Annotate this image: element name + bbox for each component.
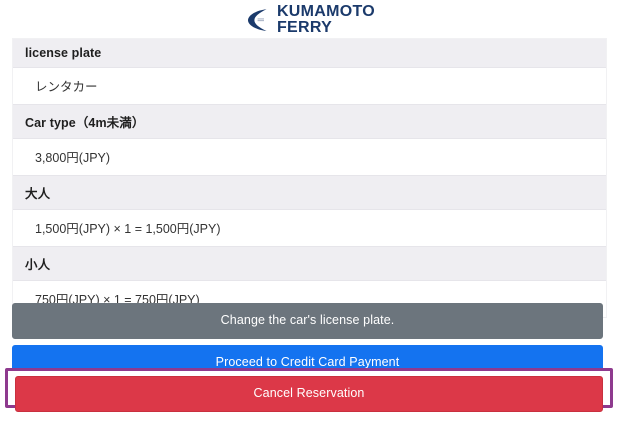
table-row: 小人 (13, 247, 606, 281)
brand-line-2: FERRY (277, 20, 375, 36)
reservation-details-panel: license plate レンタカー Car type（4m未満） 3,800… (12, 38, 607, 318)
cancel-reservation-highlight: Cancel Reservation (5, 368, 613, 408)
table-row: Car type（4m未満） (13, 105, 606, 139)
detail-label-license-plate: license plate (13, 39, 606, 68)
cancel-reservation-button[interactable]: Cancel Reservation (15, 376, 603, 412)
site-header: KUMAMOTO FERRY (0, 0, 620, 40)
scroll-gutter[interactable] (613, 0, 620, 427)
reservation-details-table: license plate レンタカー Car type（4m未満） 3,800… (13, 39, 606, 317)
table-row: 1,500円(JPY) × 1 = 1,500円(JPY) (13, 210, 606, 247)
detail-label-child: 小人 (13, 247, 606, 281)
detail-value-adult: 1,500円(JPY) × 1 = 1,500円(JPY) (13, 210, 606, 247)
table-row: license plate (13, 39, 606, 68)
change-license-plate-button[interactable]: Change the car's license plate. (12, 303, 603, 339)
table-row: 大人 (13, 176, 606, 210)
table-row: レンタカー (13, 68, 606, 105)
detail-label-adult: 大人 (13, 176, 606, 210)
brand-line-1: KUMAMOTO (277, 4, 375, 20)
brand-logo[interactable]: KUMAMOTO FERRY (245, 4, 375, 37)
table-row: 3,800円(JPY) (13, 139, 606, 176)
detail-value-license-plate: レンタカー (13, 68, 606, 105)
button-spacer (12, 339, 603, 345)
brand-wordmark: KUMAMOTO FERRY (277, 4, 375, 37)
crescent-wave-icon (245, 7, 271, 33)
detail-label-car-type: Car type（4m未満） (13, 105, 606, 139)
detail-value-car-type: 3,800円(JPY) (13, 139, 606, 176)
